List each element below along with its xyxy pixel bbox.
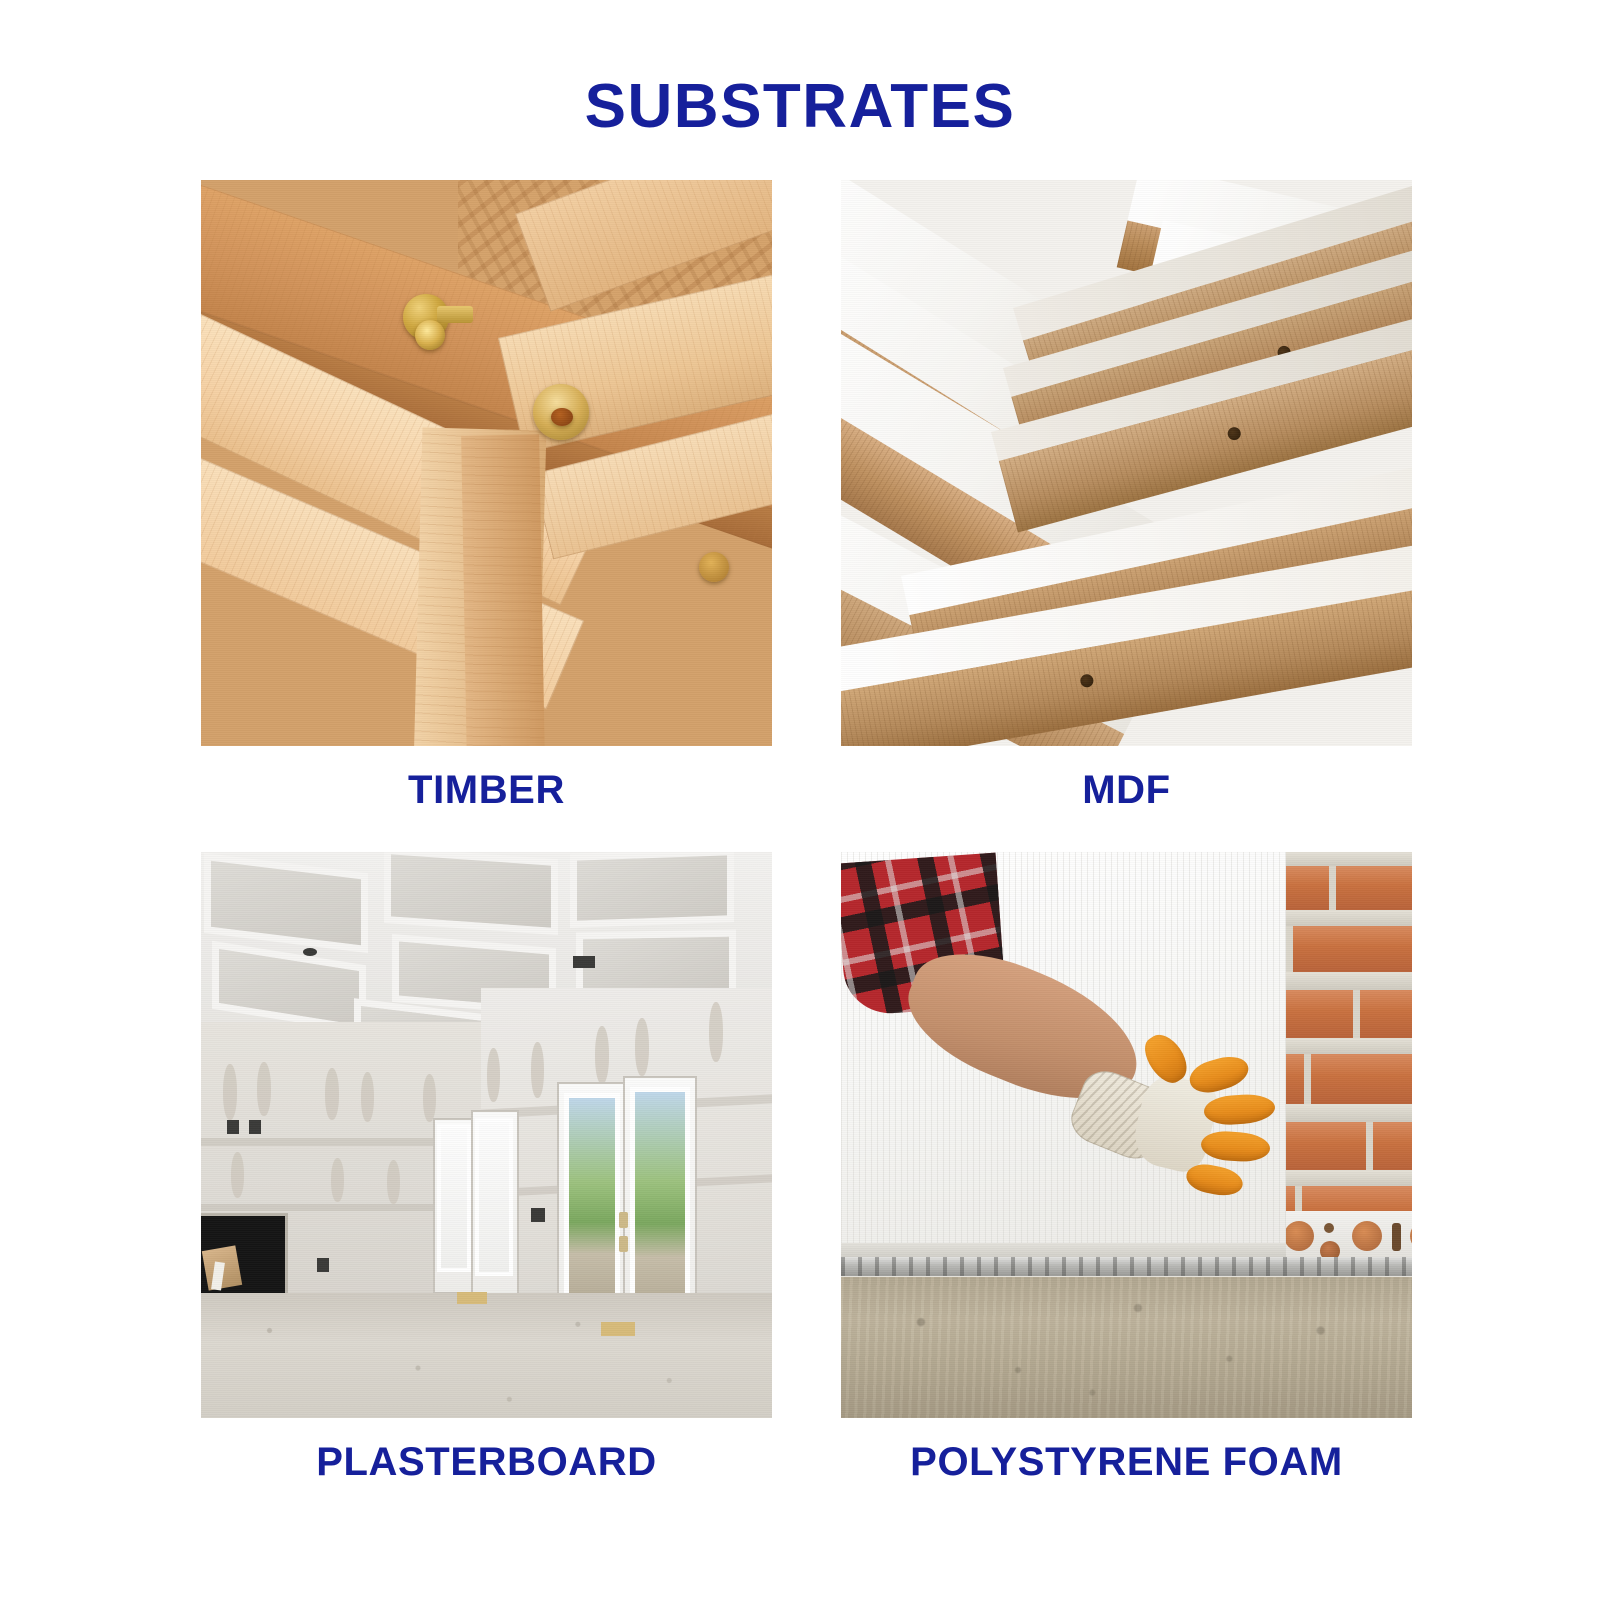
electrical-box [249,1120,261,1134]
page-title: SUBSTRATES [0,76,1600,138]
substrate-label-timber: TIMBER [201,770,772,810]
substrate-label-polystyrene-foam: POLYSTYRENE FOAM [841,1442,1412,1482]
door-handle-1 [619,1212,628,1228]
concrete-floor [201,1293,772,1418]
plasterboard-photo [201,852,772,1418]
mud-daub [257,1062,271,1116]
metal-starter-track [841,1257,1412,1276]
door-handle-2 [619,1236,628,1252]
mud-daub [223,1064,237,1120]
brass-bolt-shaft-1 [437,306,473,323]
mud-daub [709,1002,723,1062]
substrate-label-mdf: MDF [841,770,1412,810]
infographic-page: SUBSTRATES [0,0,1600,1600]
brass-bolt-3 [699,552,729,582]
mud-daub [325,1068,339,1120]
door-glass-frosted-2 [479,1122,509,1272]
substrate-tile-plasterboard[interactable]: PLASTERBOARD [201,852,772,1482]
polystyrene-foam-photo [841,852,1412,1418]
ceiling-vent-1 [573,956,595,968]
concrete-plinth [841,1277,1412,1419]
mud-daub [487,1048,500,1102]
electrical-box [531,1208,545,1222]
timber-post-shaded-face [461,434,545,746]
substrate-tile-timber[interactable]: TIMBER [201,180,772,810]
door-glass-frosted-1 [441,1128,467,1268]
ceiling-coffer-6 [583,937,729,992]
floor-shim-2 [601,1322,635,1336]
ceiling-coffer-2 [391,854,551,927]
brass-bolt-nut-1 [415,320,445,350]
substrates-grid: TIMBER [201,180,1412,1420]
mud-daub [361,1072,374,1122]
mud-daub [331,1158,344,1202]
door-glass-1 [569,1098,615,1298]
mud-daub [635,1018,649,1076]
ceiling-light-can [303,948,317,956]
door-glass-2 [635,1092,685,1304]
ceiling-coffer-3 [577,855,727,920]
substrate-tile-mdf[interactable]: MDF [841,180,1412,810]
electrical-box [227,1120,239,1134]
timber-photo [201,180,772,746]
mud-daub [387,1160,400,1204]
electrical-box [317,1258,329,1272]
mud-daub [531,1042,544,1098]
mdf-photo [841,180,1412,746]
floor-shim-1 [457,1292,487,1304]
brass-bolt-core-2 [551,408,573,426]
substrate-tile-polystyrene-foam[interactable]: POLYSTYRENE FOAM [841,852,1412,1482]
substrate-label-plasterboard: PLASTERBOARD [201,1442,772,1482]
mud-daub [231,1152,244,1198]
mud-daub [423,1074,436,1122]
mud-daub [595,1026,609,1084]
